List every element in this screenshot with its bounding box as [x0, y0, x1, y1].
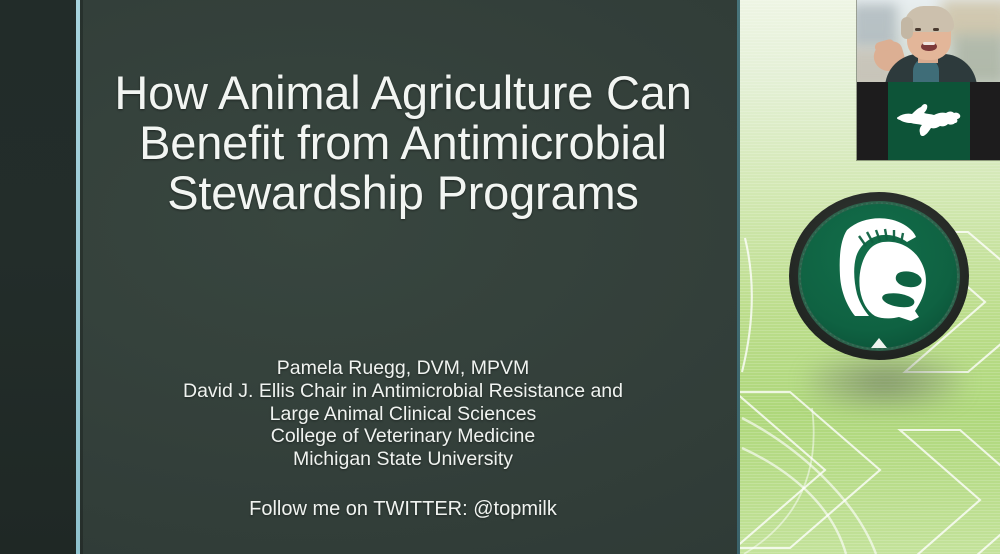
presenter-university: Michigan State University [84, 448, 722, 471]
michigan-upper-peninsula-icon [896, 100, 962, 140]
slide-title-line-3: Stewardship Programs [84, 168, 722, 218]
slide-accent-shadow [80, 0, 83, 554]
slide-title: How Animal Agriculture Can Benefit from … [84, 68, 722, 217]
presenter-eye-right [933, 28, 939, 31]
presenter-college: College of Veterinary Medicine [84, 425, 722, 448]
upper-peninsula-sign [888, 82, 970, 160]
slide-left-strip [0, 0, 76, 554]
webcam-lower-bar [857, 82, 1000, 160]
slide-title-line-1: How Animal Agriculture Can [84, 68, 722, 118]
presenter-figure [857, 0, 1000, 82]
presenter-hair [904, 6, 954, 32]
presenter-mouth [921, 42, 937, 51]
presentation-recording-frame: How Animal Agriculture Can Benefit from … [0, 0, 1000, 554]
presenter-eye-left [915, 28, 921, 31]
presenter-chair-title: David J. Ellis Chair in Antimicrobial Re… [84, 380, 722, 403]
presenter-webcam-tile[interactable] [857, 0, 1000, 160]
presentation-slide: How Animal Agriculture Can Benefit from … [0, 0, 740, 554]
presenter-department: Large Animal Clinical Sciences [84, 403, 722, 426]
slide-right-edge [737, 0, 740, 554]
presenter-credits: Pamela Ruegg, DVM, MPVM David J. Ellis C… [84, 357, 722, 471]
presenter-name: Pamela Ruegg, DVM, MPVM [84, 357, 722, 380]
msu-spartan-helmet-logo [787, 190, 972, 362]
slide-title-line-2: Benefit from Antimicrobial [84, 118, 722, 168]
presenter-social-handle: Follow me on TWITTER: @topmilk [84, 498, 722, 521]
